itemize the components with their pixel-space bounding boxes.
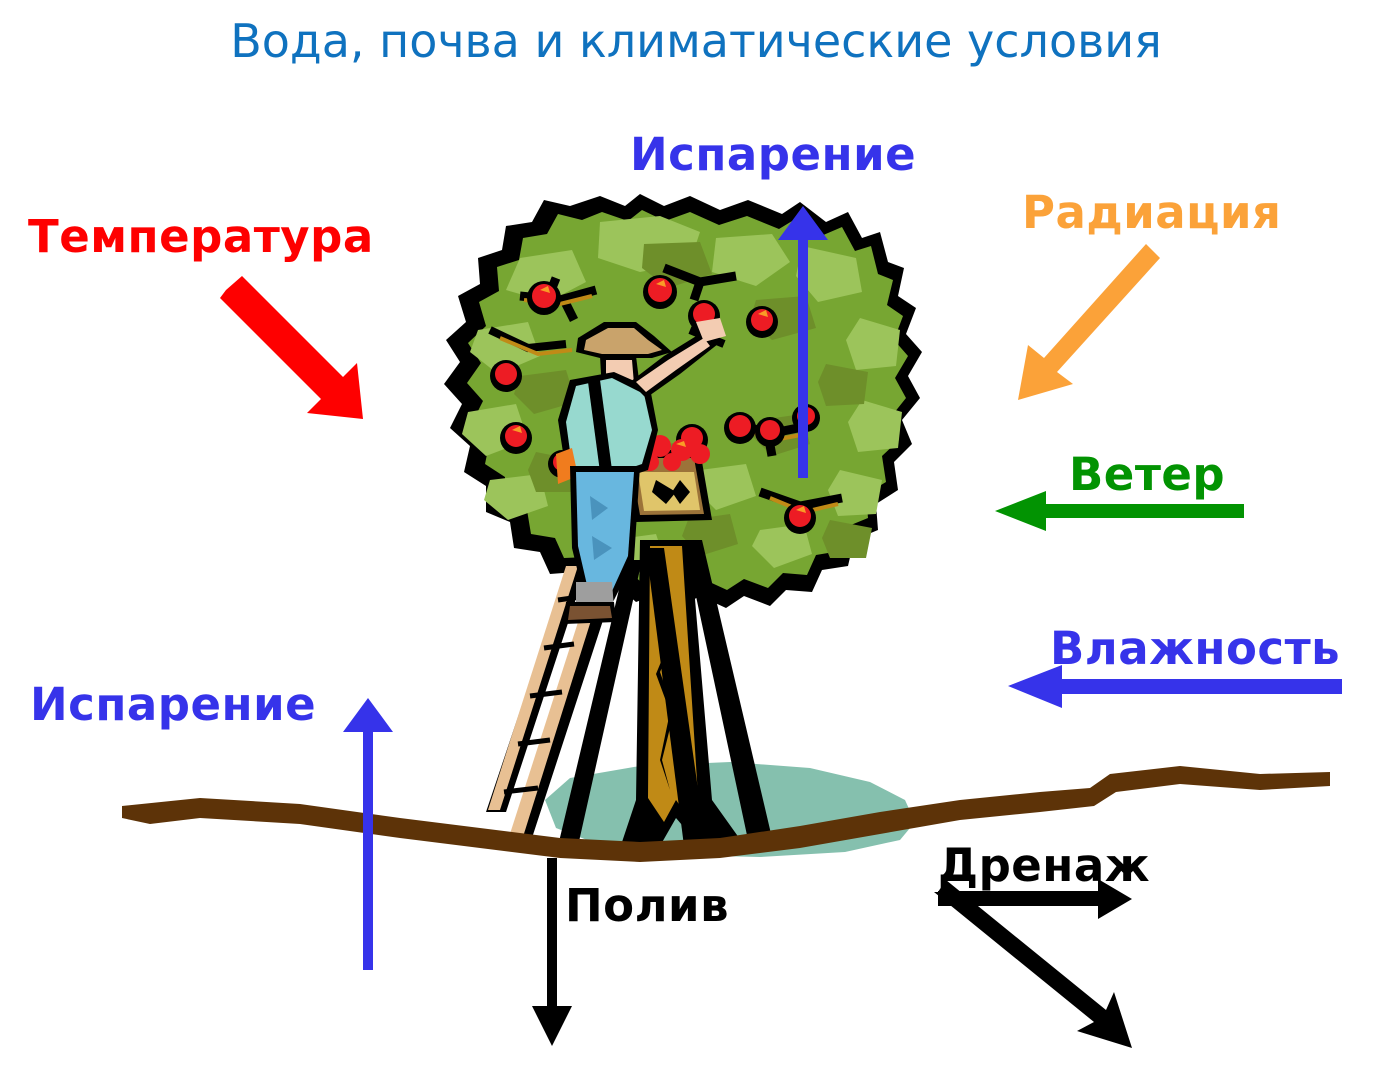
- label-humidity: Влажность: [1050, 626, 1340, 671]
- label-irrigation: Полив: [565, 883, 729, 928]
- evaporation-bottom-arrow: [343, 698, 393, 970]
- evaporation-top-arrow: [778, 206, 828, 478]
- label-radiation: Радиация: [1022, 190, 1281, 235]
- radiation-arrow: [1018, 244, 1160, 400]
- label-temperature: Температура: [28, 214, 374, 259]
- temperature-arrow: [220, 276, 363, 419]
- diagram-canvas: Вода, почва и климатические условия: [0, 0, 1392, 1068]
- label-wind: Ветер: [1069, 452, 1225, 497]
- label-drainage: Дренаж: [938, 843, 1150, 888]
- label-evaporation-bottom: Испарение: [30, 682, 316, 727]
- label-evaporation-top: Испарение: [630, 132, 916, 177]
